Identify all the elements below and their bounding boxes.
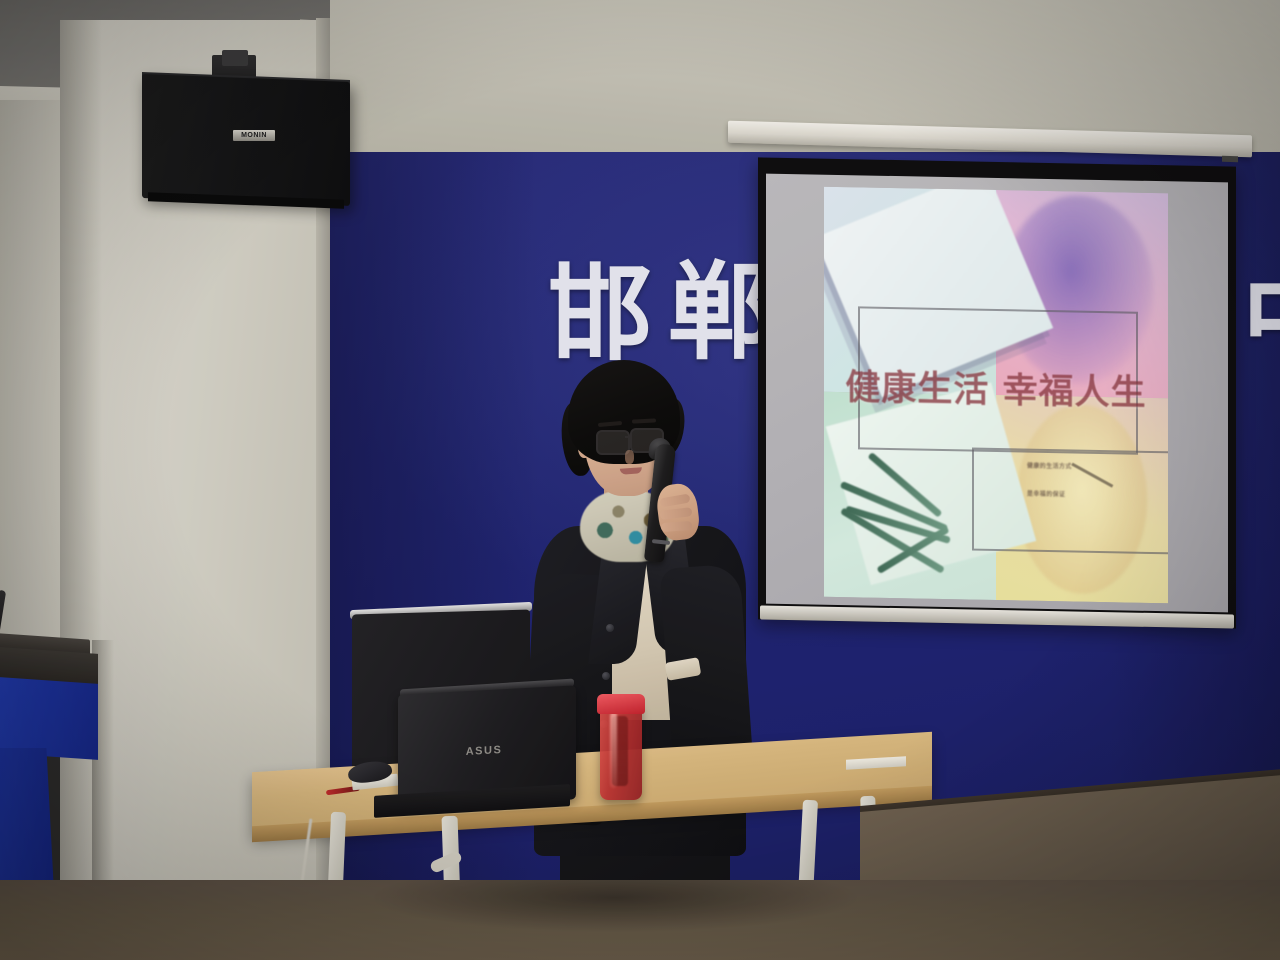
banner-char-3: 中 [1242,266,1280,370]
banner-char-1: 邯 [548,262,652,366]
projected-slide: 健康生活 幸福人生 健康的生活方式 是幸福的保证 [824,187,1168,604]
slide-pens-group [831,433,989,592]
presenter-nose [625,450,634,464]
water-bottle-highlight [610,712,617,788]
screen-roller-tab [1222,156,1238,162]
water-bottle-cap [597,694,645,714]
photo-scene: 邯 郸 中 MONIN 健康生活 幸福人生 健康的生活方 [0,0,1280,960]
eyeglasses-bridge [625,436,632,438]
speaker-mount-top [222,50,248,66]
slide-subtitle-line-1: 健康的生活方式 [1027,461,1072,472]
slide-subtitle-line-2: 是幸福的保证 [1027,490,1065,501]
coat-button-1 [606,624,614,632]
coat-button-2 [602,672,610,680]
floor-shadow [330,880,950,960]
female-presenter [500,360,780,960]
slide-title: 健康生活 幸福人生 [824,359,1168,417]
speaker-brand-badge: MONIN [233,130,275,141]
